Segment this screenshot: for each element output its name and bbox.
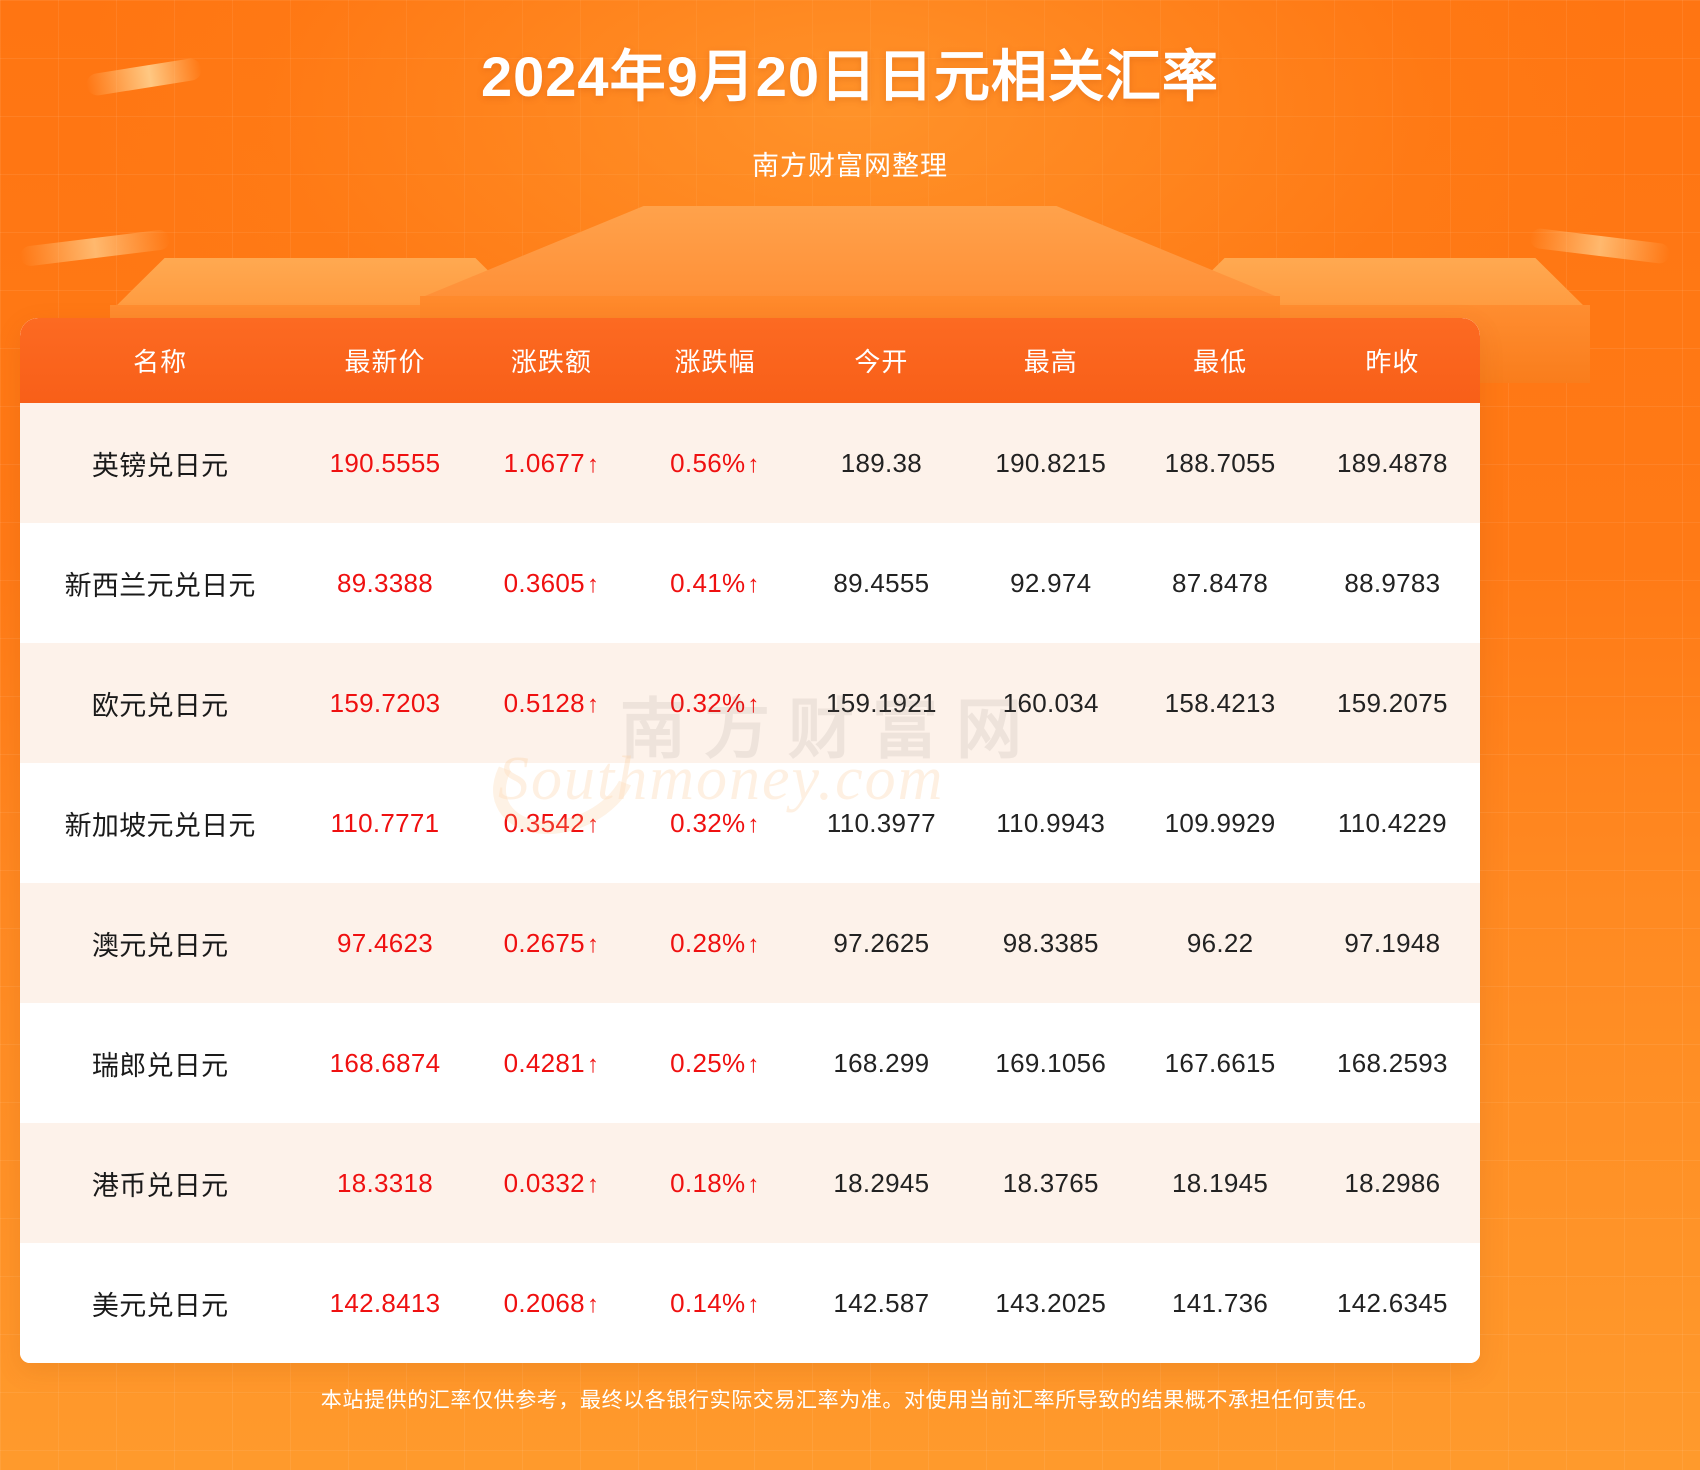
arrow-up-icon: ↑ <box>587 571 599 598</box>
cell-change: 0.5128↑ <box>470 643 634 763</box>
cell-name: 欧元兑日元 <box>20 643 300 763</box>
page-title: 2024年9月20日日元相关汇率 <box>0 44 1700 110</box>
column-header-high[interactable]: 最高 <box>966 318 1135 403</box>
cell-name: 港币兑日元 <box>20 1123 300 1243</box>
cell-prev-close: 189.4878 <box>1305 403 1480 523</box>
table-row[interactable]: 新西兰元兑日元 89.3388 0.3605↑ 0.41%↑ 89.4555 9… <box>20 523 1480 643</box>
column-header-prev-close[interactable]: 昨收 <box>1305 318 1480 403</box>
cell-last-price: 18.3318 <box>300 1123 469 1243</box>
column-header-low[interactable]: 最低 <box>1135 318 1304 403</box>
cell-open: 97.2625 <box>797 883 966 1003</box>
arrow-up-icon: ↑ <box>587 691 599 718</box>
cell-last-price: 168.6874 <box>300 1003 469 1123</box>
cell-prev-close: 142.6345 <box>1305 1243 1480 1363</box>
table-row[interactable]: 美元兑日元 142.8413 0.2068↑ 0.14%↑ 142.587 14… <box>20 1243 1480 1363</box>
column-header-change-pct[interactable]: 涨跌幅 <box>633 318 797 403</box>
change-value: 0.0332 <box>504 1168 585 1198</box>
arrow-up-icon: ↑ <box>747 691 759 718</box>
column-header-open[interactable]: 今开 <box>797 318 966 403</box>
arrow-up-icon: ↑ <box>747 571 759 598</box>
change-value: 0.4281 <box>504 1048 585 1078</box>
table-row[interactable]: 英镑兑日元 190.5555 1.0677↑ 0.56%↑ 189.38 190… <box>20 403 1480 523</box>
cell-last-price: 89.3388 <box>300 523 469 643</box>
change-value: 0.3542 <box>504 808 585 838</box>
cell-prev-close: 168.2593 <box>1305 1003 1480 1123</box>
cell-change-pct: 0.32%↑ <box>633 643 797 763</box>
arrow-up-icon: ↑ <box>747 931 759 958</box>
cell-change: 0.3605↑ <box>470 523 634 643</box>
cell-prev-close: 88.9783 <box>1305 523 1480 643</box>
cell-low: 87.8478 <box>1135 523 1304 643</box>
cell-high: 190.8215 <box>966 403 1135 523</box>
table-row[interactable]: 港币兑日元 18.3318 0.0332↑ 0.18%↑ 18.2945 18.… <box>20 1123 1480 1243</box>
table-row[interactable]: 澳元兑日元 97.4623 0.2675↑ 0.28%↑ 97.2625 98.… <box>20 883 1480 1003</box>
page-subtitle: 南方财富网整理 <box>0 144 1700 183</box>
cell-high: 98.3385 <box>966 883 1135 1003</box>
cell-prev-close: 159.2075 <box>1305 643 1480 763</box>
change-pct-value: 0.25% <box>670 1048 745 1078</box>
cell-change: 0.3542↑ <box>470 763 634 883</box>
cell-open: 110.3977 <box>797 763 966 883</box>
cell-name: 新西兰元兑日元 <box>20 523 300 643</box>
table-row[interactable]: 新加坡元兑日元 110.7771 0.3542↑ 0.32%↑ 110.3977… <box>20 763 1480 883</box>
cell-high: 143.2025 <box>966 1243 1135 1363</box>
cell-low: 188.7055 <box>1135 403 1304 523</box>
exchange-rate-table-card: 名称 最新价 涨跌额 涨跌幅 今开 最高 最低 昨收 英镑兑日元 190.555… <box>20 318 1480 1363</box>
cell-prev-close: 97.1948 <box>1305 883 1480 1003</box>
cell-low: 109.9929 <box>1135 763 1304 883</box>
cell-change-pct: 0.18%↑ <box>633 1123 797 1243</box>
arrow-up-icon: ↑ <box>587 451 599 478</box>
exchange-rate-table: 名称 最新价 涨跌额 涨跌幅 今开 最高 最低 昨收 英镑兑日元 190.555… <box>20 318 1480 1363</box>
table-row[interactable]: 瑞郎兑日元 168.6874 0.4281↑ 0.25%↑ 168.299 16… <box>20 1003 1480 1123</box>
arrow-up-icon: ↑ <box>747 451 759 478</box>
cell-change-pct: 0.32%↑ <box>633 763 797 883</box>
cell-open: 142.587 <box>797 1243 966 1363</box>
cell-name: 澳元兑日元 <box>20 883 300 1003</box>
table-header: 名称 最新价 涨跌额 涨跌幅 今开 最高 最低 昨收 <box>20 318 1480 403</box>
page-header: 2024年9月20日日元相关汇率 南方财富网整理 <box>0 0 1700 183</box>
change-value: 0.5128 <box>504 688 585 718</box>
cell-low: 158.4213 <box>1135 643 1304 763</box>
arrow-up-icon: ↑ <box>747 1291 759 1318</box>
arrow-up-icon: ↑ <box>587 1171 599 1198</box>
cell-change: 0.4281↑ <box>470 1003 634 1123</box>
arrow-up-icon: ↑ <box>587 1051 599 1078</box>
arrow-up-icon: ↑ <box>747 1051 759 1078</box>
cell-high: 110.9943 <box>966 763 1135 883</box>
change-value: 0.2068 <box>504 1288 585 1318</box>
cell-last-price: 97.4623 <box>300 883 469 1003</box>
cell-change-pct: 0.56%↑ <box>633 403 797 523</box>
column-header-change[interactable]: 涨跌额 <box>470 318 634 403</box>
cell-change-pct: 0.14%↑ <box>633 1243 797 1363</box>
cell-prev-close: 18.2986 <box>1305 1123 1480 1243</box>
cell-low: 141.736 <box>1135 1243 1304 1363</box>
cell-change: 1.0677↑ <box>470 403 634 523</box>
cell-low: 18.1945 <box>1135 1123 1304 1243</box>
cell-high: 169.1056 <box>966 1003 1135 1123</box>
table-body: 英镑兑日元 190.5555 1.0677↑ 0.56%↑ 189.38 190… <box>20 403 1480 1363</box>
change-pct-value: 0.18% <box>670 1168 745 1198</box>
column-header-last-price[interactable]: 最新价 <box>300 318 469 403</box>
arrow-up-icon: ↑ <box>587 1291 599 1318</box>
cell-last-price: 142.8413 <box>300 1243 469 1363</box>
change-pct-value: 0.32% <box>670 688 745 718</box>
table-header-row: 名称 最新价 涨跌额 涨跌幅 今开 最高 最低 昨收 <box>20 318 1480 403</box>
page-footer: 本站提供的汇率仅供参考，最终以各银行实际交易汇率为准。对使用当前汇率所导致的结果… <box>0 1384 1700 1414</box>
cell-last-price: 110.7771 <box>300 763 469 883</box>
cell-change: 0.2068↑ <box>470 1243 634 1363</box>
table-row[interactable]: 欧元兑日元 159.7203 0.5128↑ 0.32%↑ 159.1921 1… <box>20 643 1480 763</box>
cell-name: 英镑兑日元 <box>20 403 300 523</box>
cell-name: 新加坡元兑日元 <box>20 763 300 883</box>
change-pct-value: 0.56% <box>670 448 745 478</box>
cell-high: 18.3765 <box>966 1123 1135 1243</box>
cell-high: 92.974 <box>966 523 1135 643</box>
arrow-up-icon: ↑ <box>747 811 759 838</box>
cell-low: 96.22 <box>1135 883 1304 1003</box>
cell-name: 美元兑日元 <box>20 1243 300 1363</box>
cell-low: 167.6615 <box>1135 1003 1304 1123</box>
cell-prev-close: 110.4229 <box>1305 763 1480 883</box>
cell-open: 18.2945 <box>797 1123 966 1243</box>
cell-change-pct: 0.41%↑ <box>633 523 797 643</box>
cell-name: 瑞郎兑日元 <box>20 1003 300 1123</box>
arrow-up-icon: ↑ <box>587 931 599 958</box>
change-pct-value: 0.14% <box>670 1288 745 1318</box>
change-value: 1.0677 <box>504 448 585 478</box>
arrow-up-icon: ↑ <box>747 1171 759 1198</box>
change-pct-value: 0.41% <box>670 568 745 598</box>
change-value: 0.2675 <box>504 928 585 958</box>
cell-change-pct: 0.25%↑ <box>633 1003 797 1123</box>
cell-last-price: 190.5555 <box>300 403 469 523</box>
column-header-name[interactable]: 名称 <box>20 318 300 403</box>
change-value: 0.3605 <box>504 568 585 598</box>
cell-high: 160.034 <box>966 643 1135 763</box>
cell-change: 0.0332↑ <box>470 1123 634 1243</box>
change-pct-value: 0.28% <box>670 928 745 958</box>
cell-open: 168.299 <box>797 1003 966 1123</box>
arrow-up-icon: ↑ <box>587 811 599 838</box>
cell-open: 159.1921 <box>797 643 966 763</box>
cell-last-price: 159.7203 <box>300 643 469 763</box>
disclaimer-text: 本站提供的汇率仅供参考，最终以各银行实际交易汇率为准。对使用当前汇率所导致的结果… <box>0 1384 1700 1414</box>
cell-change: 0.2675↑ <box>470 883 634 1003</box>
cell-change-pct: 0.28%↑ <box>633 883 797 1003</box>
change-pct-value: 0.32% <box>670 808 745 838</box>
cell-open: 189.38 <box>797 403 966 523</box>
cell-open: 89.4555 <box>797 523 966 643</box>
